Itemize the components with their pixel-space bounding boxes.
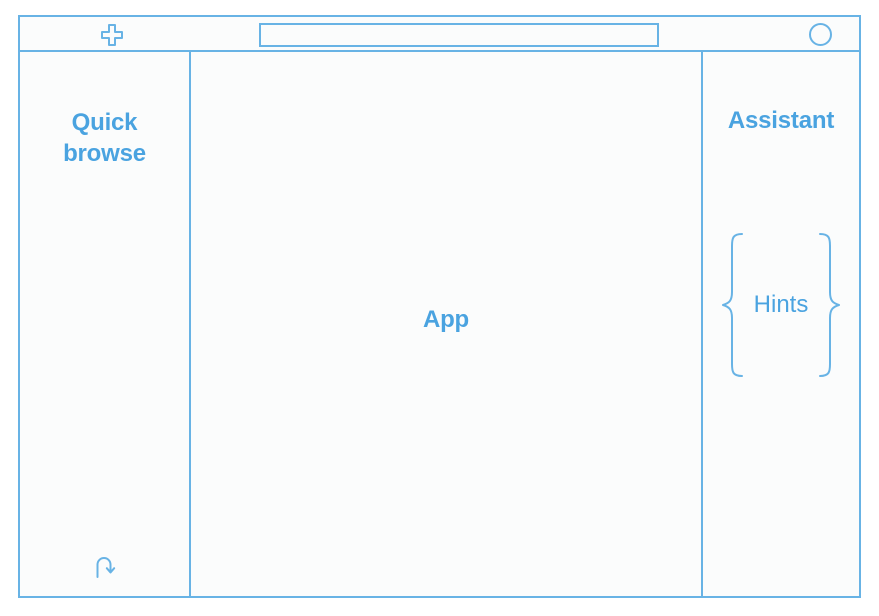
account-circle-icon[interactable]	[809, 23, 832, 46]
sidebar-quick-browse[interactable]: Quick browse	[20, 52, 191, 596]
sidebar-title-line-1: Quick	[20, 107, 189, 138]
assistant-title: Assistant	[703, 107, 859, 135]
sidebar-title: Quick browse	[20, 107, 189, 169]
new-tab-button[interactable]	[99, 22, 125, 48]
sidebar-title-line-2: browse	[20, 138, 189, 169]
address-input[interactable]	[259, 23, 659, 47]
hints-group: Hints	[703, 230, 859, 380]
u-turn-arrow-icon	[90, 552, 120, 582]
window-body: Quick browse App Assista	[20, 52, 859, 596]
browser-window-frame: Quick browse App Assista	[18, 15, 861, 598]
sidebar-footer[interactable]	[20, 552, 189, 582]
left-brace-icon	[720, 232, 746, 378]
right-brace-icon	[816, 232, 842, 378]
app-content-area[interactable]: App	[191, 52, 703, 596]
wireframe-canvas: Quick browse App Assista	[0, 0, 879, 616]
hints-label: Hints	[746, 291, 817, 319]
plus-icon	[100, 23, 124, 47]
title-bar	[20, 17, 859, 52]
assistant-panel[interactable]: Assistant Hints	[703, 52, 859, 596]
app-label: App	[423, 306, 469, 334]
